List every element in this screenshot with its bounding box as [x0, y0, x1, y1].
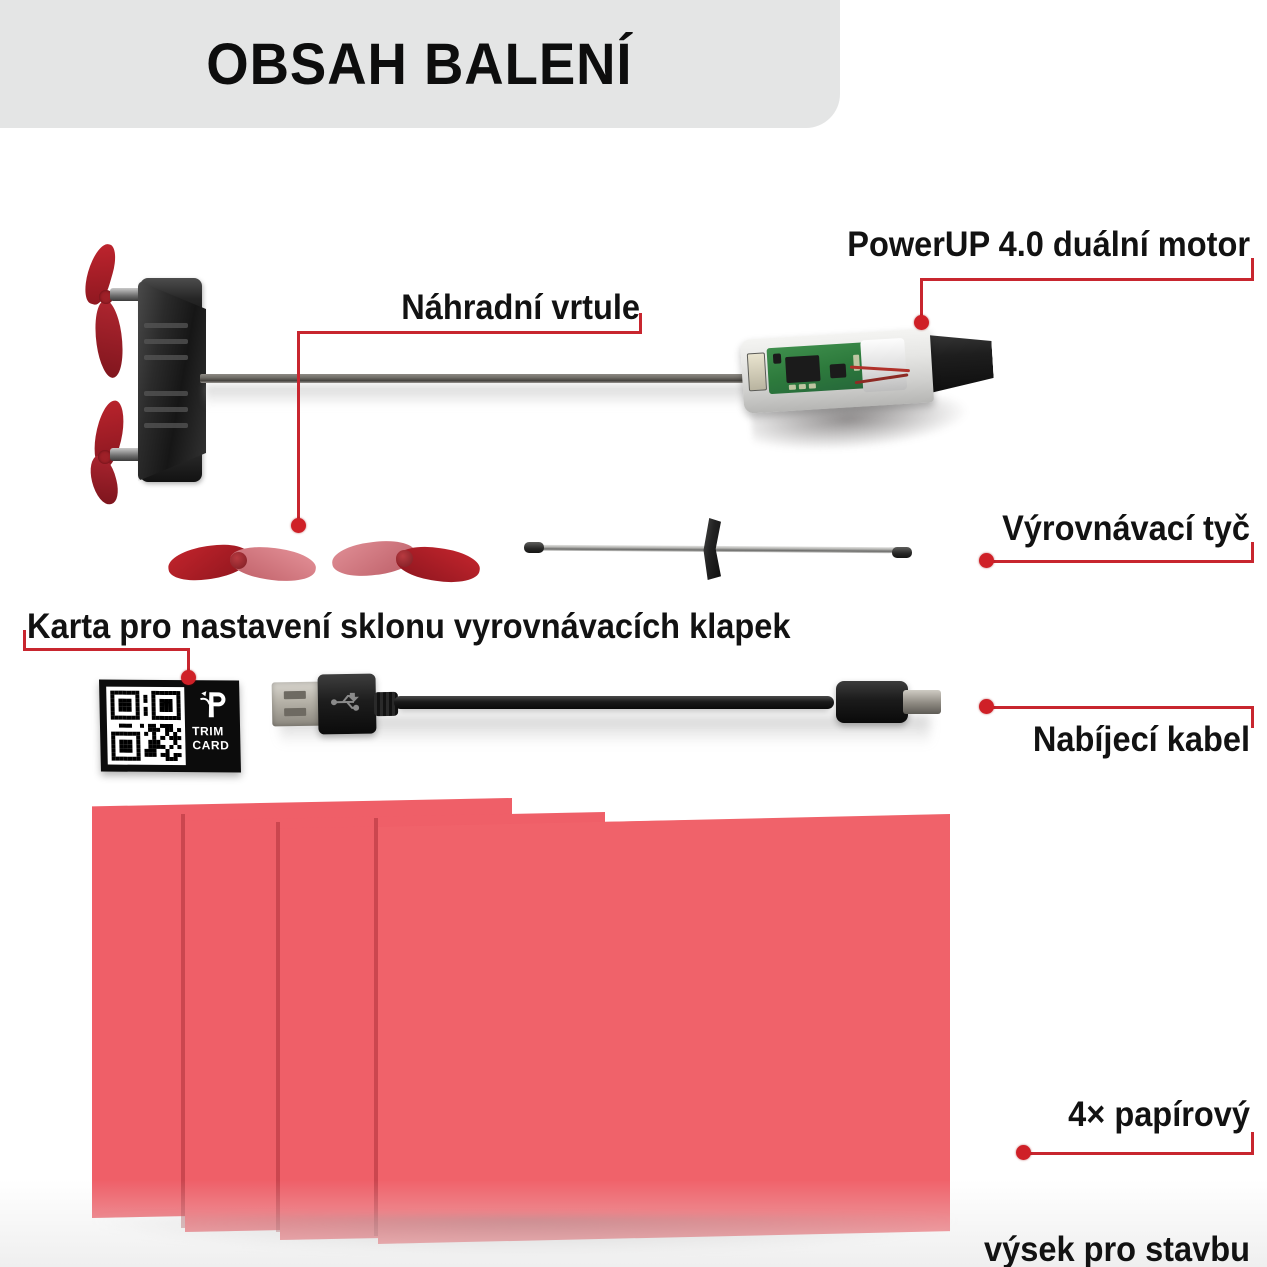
spare-propeller-1 — [168, 536, 316, 584]
cable-drop-shadow — [280, 716, 930, 750]
propeller-blade-upper-right — [91, 299, 128, 380]
qr-code — [106, 687, 186, 766]
leader-line-trim-left-tick — [23, 630, 26, 650]
balance-rod-cap-left — [524, 542, 544, 553]
paper-edge-1 — [181, 814, 185, 1228]
module-clear-housing — [740, 328, 934, 413]
leader-line-props-right-tick — [639, 313, 642, 333]
module-switch — [747, 352, 767, 391]
paper-label-line-2: výsek pro stavbu — [925, 1227, 1251, 1267]
leader-line-rod-horizontal — [985, 560, 1254, 563]
callout-dot-trim-card — [181, 670, 196, 685]
spare-propeller-2 — [332, 534, 480, 584]
trim-card-line2: CARD — [192, 738, 238, 752]
paper-edge-3 — [374, 818, 378, 1236]
callout-label-balance-rod: Výrovnávací tyč — [952, 506, 1250, 551]
leader-line-rod-right-tick — [1251, 542, 1254, 562]
trim-card-line1: TRIM — [192, 724, 238, 738]
callout-dot-charging-cable — [979, 699, 994, 714]
leader-line-props-vertical — [297, 331, 300, 523]
leader-line-trim-horizontal — [23, 648, 190, 651]
leader-line-motor-right-tick — [1251, 258, 1254, 280]
trim-card-text: TRIM CARD — [192, 724, 239, 752]
callout-label-charging-cable: Nabíjecí kabel — [952, 717, 1250, 762]
micro-usb-housing — [836, 681, 908, 723]
balance-rod-shaft — [528, 545, 910, 554]
trim-card: TRIM CARD — [99, 680, 241, 773]
header-banner: OBSAH BALENÍ — [0, 0, 840, 128]
paper-label-line-1: 4× papírový — [925, 1092, 1251, 1137]
callout-dot-balance-rod — [979, 553, 994, 568]
powerup-motor-module — [740, 328, 934, 413]
rod-drop-shadow — [205, 385, 755, 407]
powerup-p-logo-icon — [195, 690, 230, 720]
leader-line-paper-right-tick — [1251, 1132, 1254, 1154]
spare-prop-1-hub — [230, 552, 247, 569]
spare-prop-2-hub — [396, 550, 413, 567]
usb-a-connector — [272, 682, 325, 727]
motor-mount-body — [138, 281, 206, 481]
leader-line-paper-horizontal — [1022, 1152, 1254, 1155]
callout-label-motor: PowerUP 4.0 duální motor — [739, 222, 1251, 267]
paper-edge-2 — [276, 822, 280, 1232]
callout-label-trim-card: Karta pro nastavení sklonu vyrovnávacích… — [27, 604, 771, 649]
carbon-fiber-rod — [200, 374, 760, 383]
callout-dot-motor — [914, 315, 929, 330]
micro-usb-connector — [903, 690, 941, 714]
leader-line-motor-horizontal — [920, 278, 1254, 281]
leader-line-motor-vertical — [920, 278, 923, 320]
leader-line-cable-horizontal — [985, 706, 1254, 709]
module-battery — [860, 338, 907, 393]
balance-rod-cap-right — [892, 547, 912, 558]
module-tail-cone — [923, 327, 995, 397]
callout-dot-paper-sheets — [1016, 1145, 1031, 1160]
usb-trident-icon — [330, 690, 360, 715]
leader-line-props-horizontal — [297, 331, 642, 334]
callout-label-spare-props: Náhradní vrtule — [324, 285, 640, 330]
packaging-contents-infographic: OBSAH BALENÍ — [0, 0, 1267, 1267]
callout-label-paper-sheets: 4× papírový výsek pro stavbu modelu “Inv… — [925, 1002, 1251, 1267]
usb-cord — [394, 696, 834, 709]
leader-line-cable-right-tick — [1251, 706, 1254, 728]
page-title: OBSAH BALENÍ — [6, 0, 814, 128]
callout-dot-spare-props — [291, 518, 306, 533]
